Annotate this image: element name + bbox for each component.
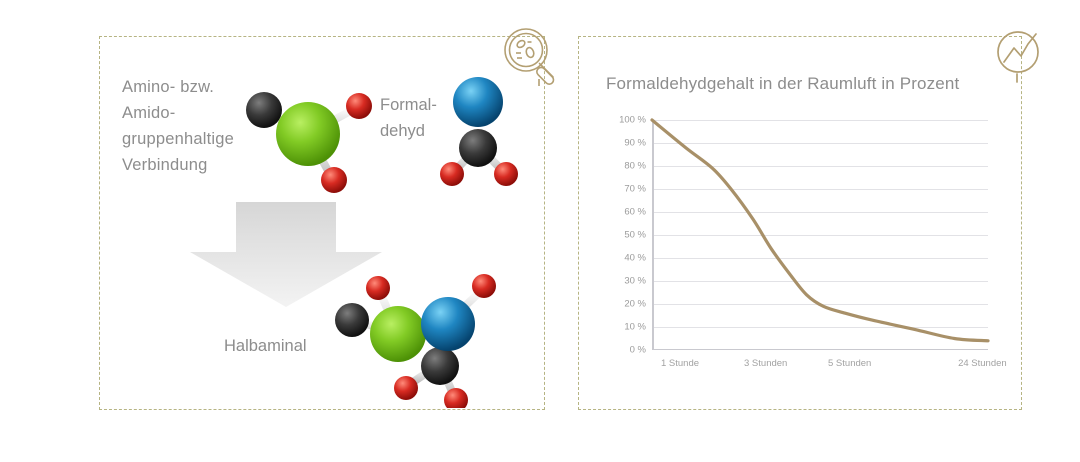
y-axis-tick-label: 0 %: [604, 345, 646, 356]
y-axis-tick-label: 40 %: [604, 253, 646, 264]
amine-molecule: [236, 82, 386, 197]
y-axis-tick-label: 100 %: [604, 115, 646, 126]
y-axis-tick-label: 60 %: [604, 207, 646, 218]
x-axis-tick-label: 5 Stunden: [828, 358, 871, 369]
y-axis-tick-label: 20 %: [604, 299, 646, 310]
series-path: [652, 120, 988, 341]
page-root: Amino- bzw. Amido- gruppenhaltige Verbin…: [0, 0, 1080, 462]
y-axis-tick-label: 10 %: [604, 322, 646, 333]
y-axis-tick-label: 30 %: [604, 276, 646, 287]
chart-series-line: [652, 120, 988, 350]
y-axis-tick-label: 70 %: [604, 184, 646, 195]
x-axis-tick-label: 1 Stunde: [661, 358, 699, 369]
y-axis-tick-label: 80 %: [604, 161, 646, 172]
y-axis-tick-label: 50 %: [604, 230, 646, 241]
halbaminal-molecule: [326, 272, 516, 408]
chart-plot-area: [652, 120, 988, 350]
formaldehyde-molecule: [432, 70, 528, 192]
line-chart: 100 %90 %80 %70 %60 %50 %40 %30 %20 %10 …: [600, 120, 1000, 385]
chart-title: Formaldehydgehalt in der Raumluft in Pro…: [606, 74, 959, 94]
x-axis-tick-label: 24 Stunden: [958, 358, 1007, 369]
y-axis-tick-label: 90 %: [604, 138, 646, 149]
x-axis-tick-label: 3 Stunden: [744, 358, 787, 369]
chart-circle-icon: [988, 24, 1052, 88]
x-axis-labels: 1 Stunde3 Stunden5 Stunden24 Stunden: [652, 354, 988, 378]
y-axis-labels: 100 %90 %80 %70 %60 %50 %40 %30 %20 %10 …: [600, 120, 646, 350]
halbaminal-label: Halbaminal: [224, 337, 307, 356]
